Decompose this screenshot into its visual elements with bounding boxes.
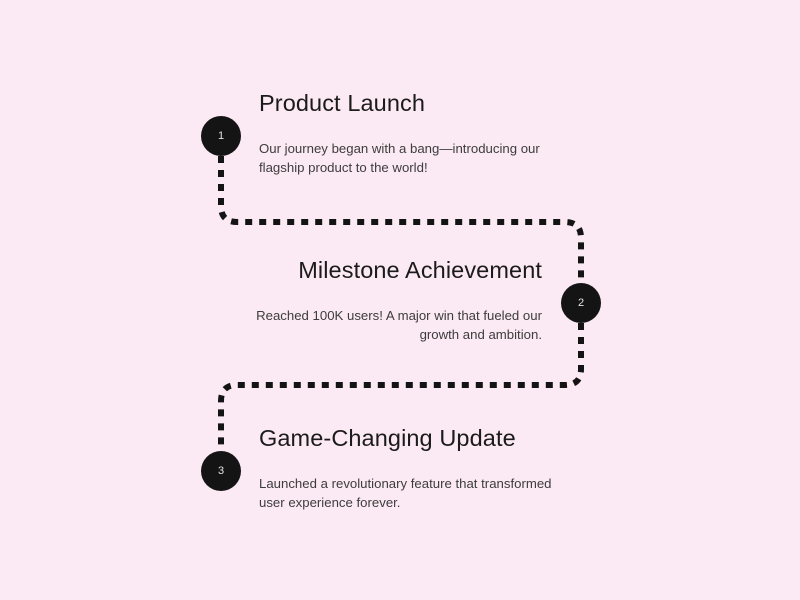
timeline-marker-1[interactable]: 1 — [201, 116, 241, 156]
timeline-canvas: Product Launch Our journey began with a … — [0, 0, 800, 600]
timeline-step-2-text: Milestone Achievement Reached 100K users… — [242, 257, 542, 345]
timeline-step-1-title: Product Launch — [259, 90, 559, 117]
timeline-step-2-title: Milestone Achievement — [242, 257, 542, 284]
timeline-step-2-body: Reached 100K users! A major win that fue… — [242, 306, 542, 345]
timeline-marker-2[interactable]: 2 — [561, 283, 601, 323]
timeline-marker-1-number: 1 — [218, 131, 224, 142]
timeline-step-3-text: Game-Changing Update Launched a revoluti… — [259, 425, 569, 513]
timeline-marker-3-number: 3 — [218, 466, 224, 477]
timeline-step-3-body: Launched a revolutionary feature that tr… — [259, 474, 569, 513]
timeline-step-1-text: Product Launch Our journey began with a … — [259, 90, 559, 178]
timeline-step-1-body: Our journey began with a bang—introducin… — [259, 139, 559, 178]
timeline-step-3-title: Game-Changing Update — [259, 425, 569, 452]
timeline-marker-3[interactable]: 3 — [201, 451, 241, 491]
timeline-marker-2-number: 2 — [578, 298, 584, 309]
